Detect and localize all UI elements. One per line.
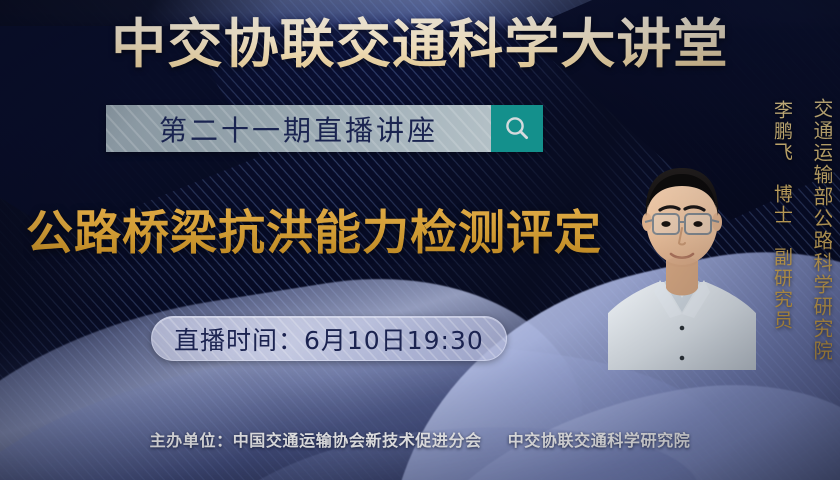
footer-prefix: 主办单位： — [150, 431, 233, 450]
page-title: 中交协联交通科学大讲堂 — [0, 14, 840, 76]
footer-organizer-2: 中交协联交通科学研究院 — [508, 431, 691, 450]
footer-organizers: 主办单位：中国交通运输协会新技术促进分会中交协联交通科学研究院 — [0, 427, 840, 451]
lecture-headline: 公路桥梁抗洪能力检测评定 — [26, 205, 602, 263]
speaker-name-title: 李鹏飞 博士 副研究员 — [771, 100, 792, 331]
episode-banner-body: 第二十一期直播讲座 — [106, 105, 491, 152]
poster-content: 中交协联交通科学大讲堂 第二十一期直播讲座 公路桥梁抗洪能力检测评定 直播时间：… — [0, 0, 840, 480]
episode-banner: 第二十一期直播讲座 — [106, 105, 543, 152]
episode-label: 第二十一期直播讲座 — [159, 109, 438, 149]
broadcast-time-pill: 直播时间：6月10日19:30 — [151, 316, 507, 361]
live-lecture-poster: 中交协联交通科学大讲堂 第二十一期直播讲座 公路桥梁抗洪能力检测评定 直播时间：… — [0, 0, 840, 480]
broadcast-time-text: 直播时间：6月10日19:30 — [174, 321, 484, 357]
speaker-portrait-illustration — [608, 112, 756, 370]
search-icon-box[interactable] — [491, 105, 543, 152]
speaker-organization: 交通运输部公路科学研究院 — [811, 98, 832, 362]
search-icon — [502, 114, 532, 144]
speaker-photo — [608, 112, 756, 370]
footer-organizer-1: 中国交通运输协会新技术促进分会 — [233, 431, 482, 450]
